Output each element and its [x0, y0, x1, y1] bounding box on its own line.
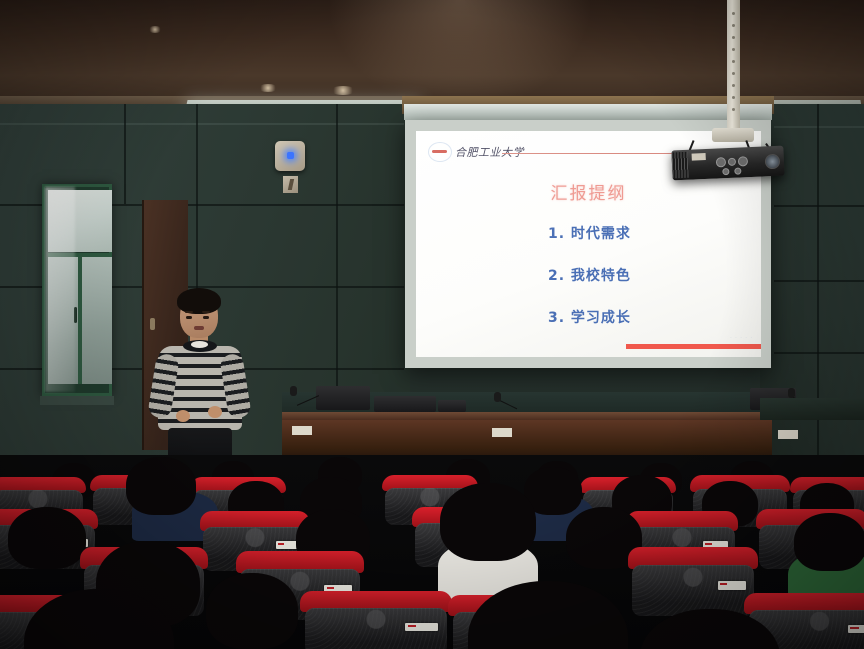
wall-seam [774, 352, 864, 354]
ceiling-projector [671, 146, 784, 181]
wall-seam [0, 123, 404, 125]
projector-indicator [722, 168, 729, 175]
projector-vent [671, 152, 688, 179]
slide-logo-text: 合肥工业大学 [455, 144, 524, 160]
projector-mount-plate [712, 128, 754, 142]
slide-institution-logo: 合肥工业大学 [428, 141, 524, 163]
podium-label-tag [778, 430, 798, 439]
podium-front-panel [282, 420, 772, 460]
audience-head [440, 483, 536, 561]
university-seal-icon [428, 142, 452, 162]
presenter-right-hand [208, 406, 222, 418]
slide-bullet-item: 2. 我校特色 [548, 265, 631, 285]
projector-label-tag [692, 153, 706, 161]
projector-button[interactable] [728, 158, 736, 166]
presenter-brow [202, 311, 210, 313]
wall-seam [774, 126, 864, 128]
podium-label-tag [492, 428, 512, 437]
microphone-head-icon [788, 388, 795, 398]
presenter [148, 284, 252, 470]
ceiling-light-sheen [330, 0, 590, 108]
audience-head [206, 573, 298, 649]
ceiling-spot-light [330, 86, 356, 95]
audience-head [8, 507, 86, 569]
wall-seam [774, 205, 864, 207]
slide-accent-bar [626, 344, 761, 349]
presenter-mouth [194, 326, 204, 330]
slide-watermark: · · · · · [730, 335, 753, 341]
projector-button[interactable] [716, 157, 726, 167]
slide-bullet-item: 3. 学习成长 [548, 307, 631, 327]
window-sill [40, 396, 114, 405]
microphone-head-icon [494, 392, 501, 402]
presenter-undershirt [191, 341, 208, 348]
audience-seating-area [0, 455, 864, 649]
slide-title: 汇报提纲 [416, 179, 761, 204]
microphone-head-icon [290, 386, 297, 396]
lecture-hall-photo: 合肥工业大学 汇报提纲 1. 时代需求 2. 我校特色 3. 学习成长 · · … [0, 0, 864, 649]
audience-seat[interactable] [300, 591, 452, 649]
wall-seam [774, 280, 864, 282]
podium-label-tag [292, 426, 312, 435]
ceiling-spot-light [258, 84, 278, 92]
presenter-hair [177, 288, 221, 314]
projector-indicator [734, 167, 741, 174]
presenter-eye [203, 316, 209, 319]
audience-seat[interactable] [628, 547, 758, 613]
slide-bullet-item: 1. 时代需求 [548, 223, 631, 243]
window-daylight-glare [45, 187, 75, 392]
projector-lens-icon [765, 154, 781, 170]
screen-roller-case [404, 104, 772, 120]
presenter-eye [186, 316, 192, 319]
projector-button[interactable] [738, 156, 748, 166]
presenter-left-hand [176, 410, 190, 422]
audience-head [794, 513, 864, 571]
window-mullion [78, 257, 82, 384]
podium-monitor [316, 386, 370, 410]
projector-mount-pole [727, 0, 740, 130]
audience-head [126, 457, 196, 515]
side-desk [760, 398, 864, 420]
status-led-icon [287, 152, 294, 159]
ceiling-spot-light [148, 26, 162, 33]
slide-bullet-list: 1. 时代需求 2. 我校特色 3. 学习成长 [548, 223, 631, 349]
wall-switch-plate[interactable] [283, 176, 298, 193]
podium-equipment [374, 396, 436, 412]
wall-seam [124, 104, 126, 204]
podium-equipment [438, 400, 466, 412]
presenter-brow [185, 311, 193, 313]
